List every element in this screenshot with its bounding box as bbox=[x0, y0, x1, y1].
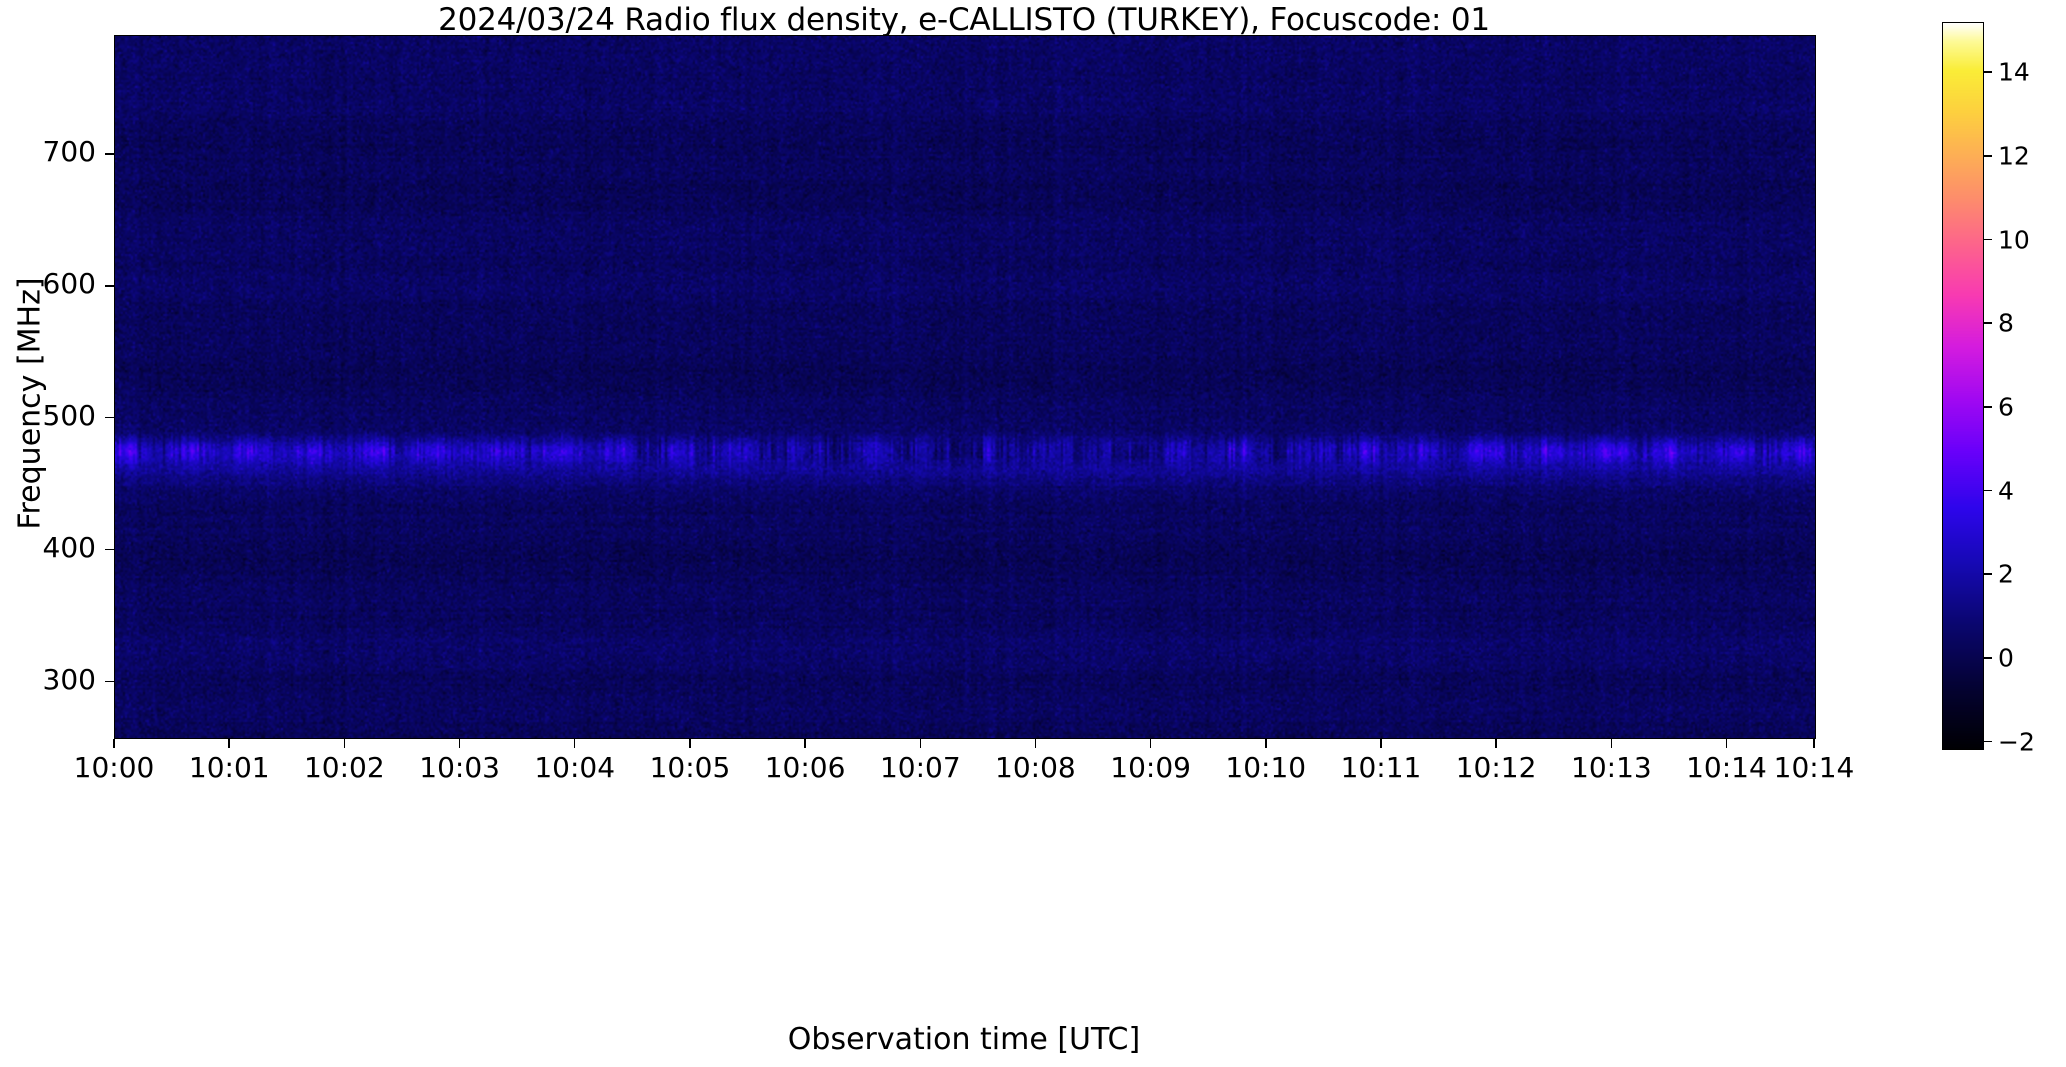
x-tick-label: 10:02 bbox=[304, 751, 385, 784]
colorbar-tick-label: 12 bbox=[1998, 141, 2030, 170]
spectrogram-axes bbox=[114, 35, 1816, 739]
colorbar-tick-label: 10 bbox=[1998, 225, 2030, 254]
x-tick-mark bbox=[689, 739, 691, 748]
colorbar-tick-label: 4 bbox=[1998, 476, 2014, 505]
x-tick-label: 10:00 bbox=[74, 751, 155, 784]
colorbar-tick-mark bbox=[1984, 239, 1992, 241]
colorbar-tick-mark bbox=[1984, 657, 1992, 659]
colorbar-tick-mark bbox=[1984, 490, 1992, 492]
colorbar-tick-label: 2 bbox=[1998, 560, 2014, 589]
chart-title: 2024/03/24 Radio flux density, e-CALLIST… bbox=[114, 2, 1814, 38]
x-tick-label: 10:10 bbox=[1225, 751, 1306, 784]
colorbar-image bbox=[1943, 23, 1983, 749]
colorbar-tick-label: −2 bbox=[1998, 727, 2035, 756]
y-tick-mark bbox=[105, 681, 114, 683]
spectrogram-image bbox=[115, 36, 1815, 738]
figure-canvas: 2024/03/24 Radio flux density, e-CALLIST… bbox=[0, 0, 2066, 1067]
x-tick-mark bbox=[1035, 739, 1037, 748]
x-axis-label: Observation time [UTC] bbox=[114, 1022, 1814, 1057]
colorbar-tick-label: 0 bbox=[1998, 643, 2014, 672]
x-tick-label: 10:06 bbox=[765, 751, 846, 784]
colorbar-tick-mark bbox=[1984, 741, 1992, 743]
x-tick-label: 10:03 bbox=[419, 751, 500, 784]
x-tick-mark bbox=[459, 739, 461, 748]
x-tick-label: 10:04 bbox=[534, 751, 615, 784]
x-tick-label: 10:11 bbox=[1341, 751, 1422, 784]
x-tick-mark bbox=[1495, 739, 1497, 748]
y-tick-mark bbox=[105, 285, 114, 287]
x-tick-label: 10:08 bbox=[995, 751, 1076, 784]
colorbar-tick-label: 14 bbox=[1998, 58, 2030, 87]
colorbar-gradient bbox=[1942, 22, 1984, 750]
x-tick-label: 10:01 bbox=[189, 751, 270, 784]
x-tick-mark bbox=[1611, 739, 1613, 748]
x-tick-mark bbox=[920, 739, 922, 748]
x-tick-mark bbox=[1150, 739, 1152, 748]
y-tick-mark bbox=[105, 549, 114, 551]
x-tick-mark bbox=[344, 739, 346, 748]
x-tick-mark bbox=[1380, 739, 1382, 748]
x-tick-label: 10:12 bbox=[1456, 751, 1537, 784]
x-tick-label: 10:09 bbox=[1110, 751, 1191, 784]
colorbar-tick-mark bbox=[1984, 573, 1992, 575]
x-tick-mark bbox=[1813, 739, 1815, 748]
x-tick-label: 10:14 bbox=[1686, 751, 1767, 784]
colorbar-tick-mark bbox=[1984, 71, 1992, 73]
x-tick-mark bbox=[113, 739, 115, 748]
x-tick-label: 10:14 bbox=[1774, 751, 1855, 784]
colorbar-tick-label: 8 bbox=[1998, 309, 2014, 338]
x-tick-mark bbox=[1265, 739, 1267, 748]
colorbar-tick-mark bbox=[1984, 406, 1992, 408]
colorbar-tick-mark bbox=[1984, 155, 1992, 157]
colorbar: −202468101214 bbox=[1942, 22, 1984, 750]
x-tick-label: 10:05 bbox=[650, 751, 731, 784]
x-tick-label: 10:07 bbox=[880, 751, 961, 784]
colorbar-tick-mark bbox=[1984, 322, 1992, 324]
colorbar-tick-label: 6 bbox=[1998, 392, 2014, 421]
x-tick-mark bbox=[574, 739, 576, 748]
y-tick-mark bbox=[105, 417, 114, 419]
y-axis-label: Frequency [MHz] bbox=[13, 53, 48, 755]
y-tick-mark bbox=[105, 153, 114, 155]
x-tick-label: 10:13 bbox=[1571, 751, 1652, 784]
x-tick-mark bbox=[1726, 739, 1728, 748]
x-tick-mark bbox=[228, 739, 230, 748]
x-tick-mark bbox=[804, 739, 806, 748]
